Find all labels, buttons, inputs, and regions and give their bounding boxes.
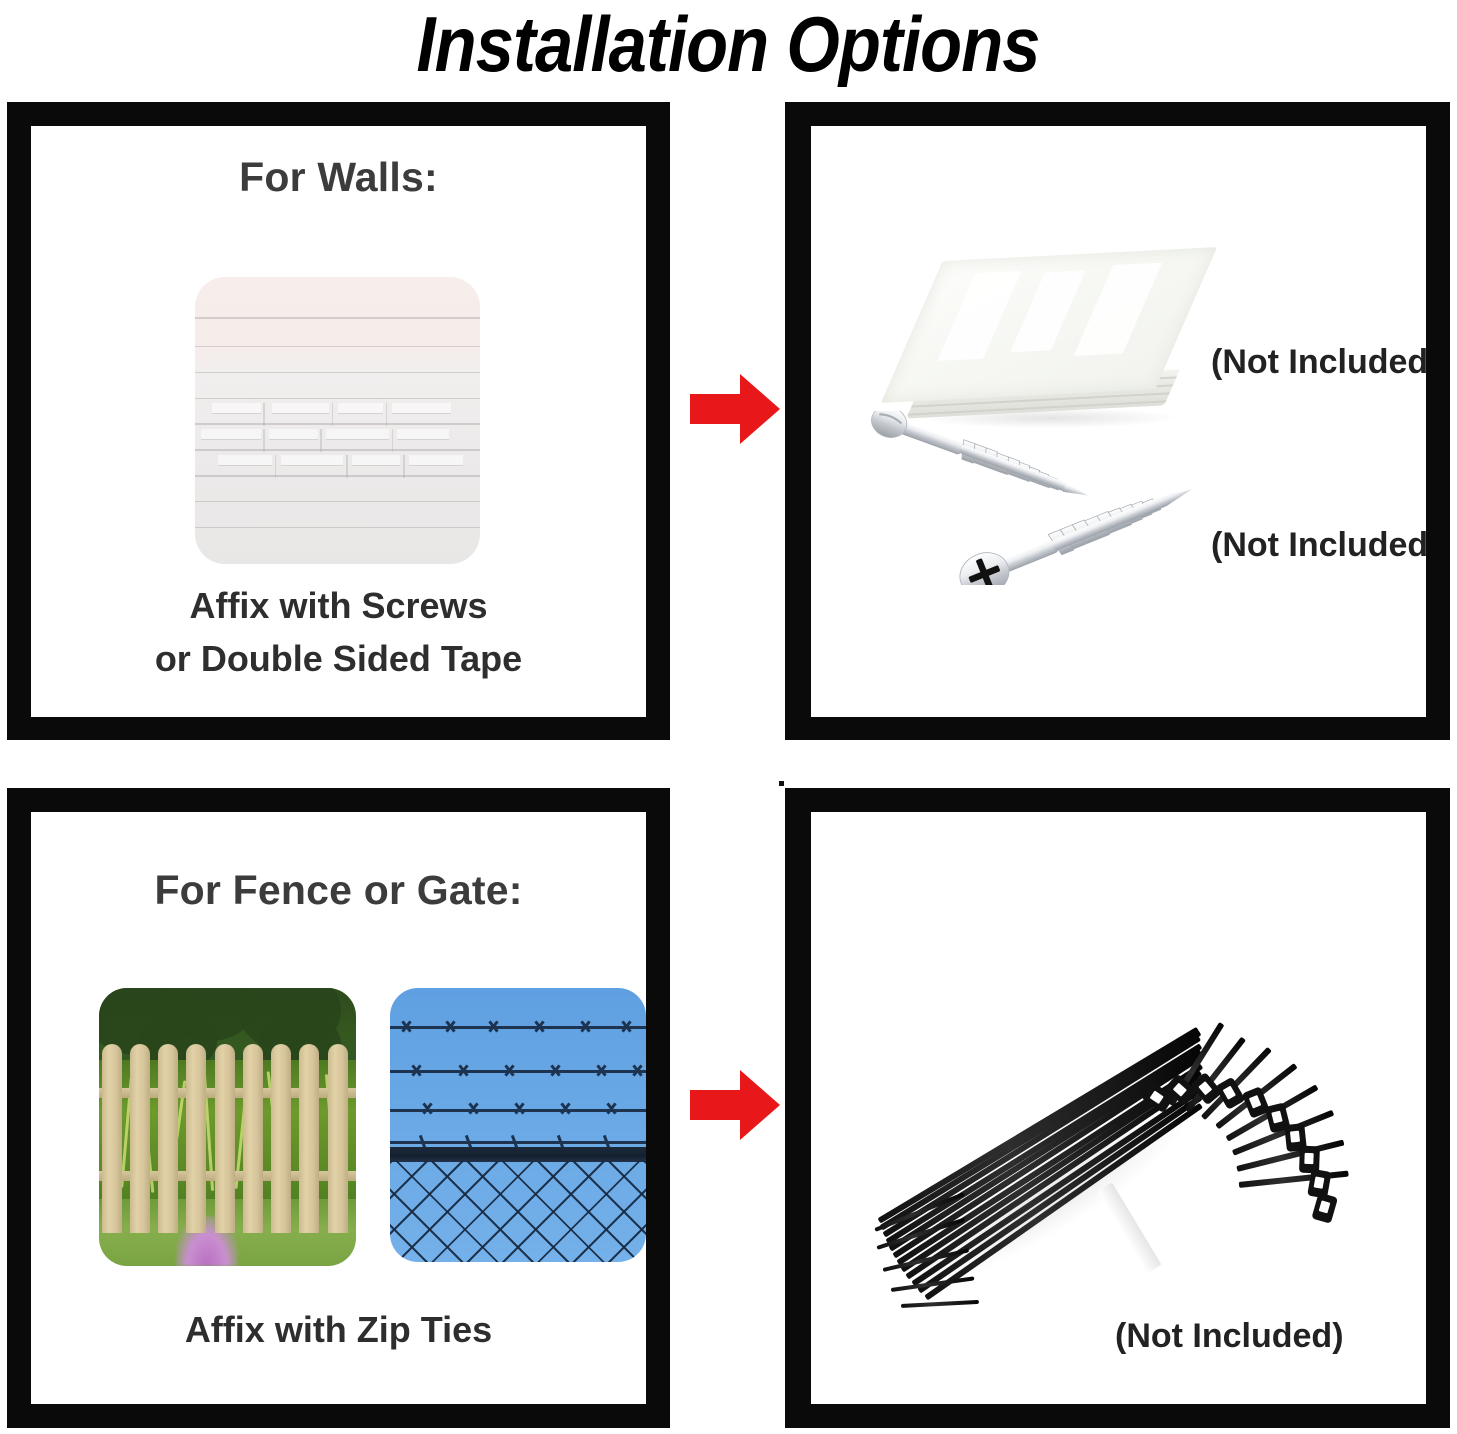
page-title-bar: Installation Options — [0, 0, 1457, 96]
right-arrow-icon-top — [688, 372, 782, 446]
for-walls-caption-line1: Affix with Screws — [31, 579, 646, 632]
tape-not-included-label: (Not Included) — [1211, 343, 1426, 382]
screw-image-2 — [939, 489, 1209, 585]
wall-texture-image — [195, 277, 480, 564]
for-walls-caption: Affix with Screws or Double Sided Tape — [31, 579, 646, 685]
panel-wall-hardware: (Not Included) — [785, 102, 1450, 740]
page-title: Installation Options — [417, 0, 1040, 86]
for-fence-heading: For Fence or Gate: — [31, 867, 646, 914]
for-fence-caption: Affix with Zip Ties — [31, 1303, 646, 1356]
for-walls-caption-line2: or Double Sided Tape — [31, 632, 646, 685]
for-fence-caption-line1: Affix with Zip Ties — [31, 1303, 646, 1356]
barbed-wire-fence-image — [390, 988, 646, 1262]
double-sided-tape-image — [899, 248, 1199, 438]
panel-zip-tie-content: (Not Included) — [811, 812, 1426, 1404]
zip-tie-bundle-image — [871, 932, 1391, 1332]
panel-zip-tie-hardware: (Not Included) — [785, 788, 1450, 1428]
panel-for-fence-or-gate: For Fence or Gate: — [7, 788, 670, 1428]
right-arrow-icon-bottom — [688, 1068, 782, 1142]
panel-for-fence-content: For Fence or Gate: — [31, 812, 646, 1404]
screws-not-included-label: (Not Included) — [1211, 526, 1426, 565]
for-walls-heading: For Walls: — [31, 154, 646, 201]
panel-wall-hardware-content: (Not Included) — [811, 126, 1426, 717]
stray-dot-artifact — [779, 781, 784, 786]
panel-for-walls: For Walls: — [7, 102, 670, 740]
panel-for-walls-content: For Walls: — [31, 126, 646, 717]
zip-ties-not-included-label: (Not Included) — [1115, 1317, 1344, 1356]
picket-fence-image — [99, 988, 356, 1266]
